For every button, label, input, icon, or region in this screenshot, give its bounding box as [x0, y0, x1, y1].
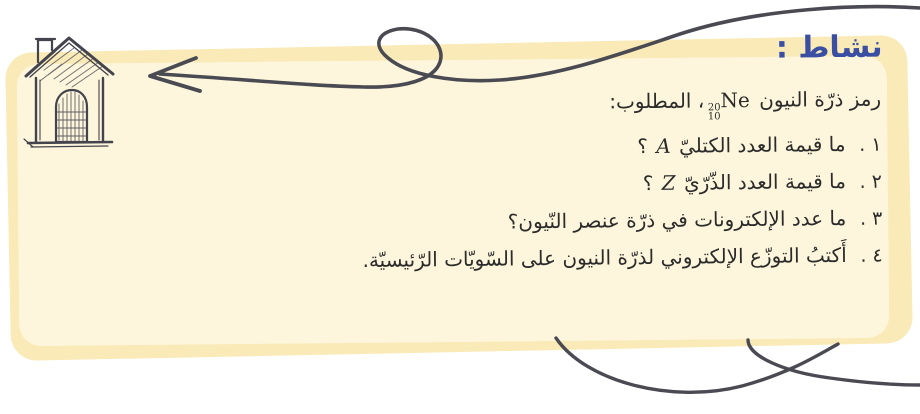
question-text: أَكتبُ التوزّع الإلكتروني لذرّة النيون ع…	[362, 237, 847, 278]
question-variable: Z	[660, 165, 678, 201]
lead-suffix-text: ، المطلوب:	[609, 88, 704, 113]
question-item-4: ٤ . أَكتبُ التوزّع الإلكتروني لذرّة الني…	[43, 237, 883, 283]
question-text: ما عدد الإلكترونات في ذرّة عنصر النّيون؟	[508, 200, 847, 240]
activity-card-content: نشاط : رمز ذرّة النيون 2010Ne، المطلوب: …	[16, 21, 903, 360]
isotope-numbers: 2010	[708, 103, 721, 122]
question-text: ما قيمة العدد الذّرّيّ Z ؟	[643, 163, 847, 201]
question-text-after: ؟	[643, 171, 660, 195]
worksheet-page: نشاط : رمز ذرّة النيون 2010Ne، المطلوب: …	[0, 0, 920, 414]
lead-prefix-text: رمز ذرّة النيون	[753, 87, 882, 112]
question-marker: ١ .	[855, 127, 881, 163]
question-text-before: ما قيمة العدد الذّرّيّ	[678, 169, 847, 195]
isotope-symbol: Ne	[720, 88, 750, 112]
isotope-atomic-number: 10	[708, 112, 721, 121]
activity-body: رمز ذرّة النيون 2010Ne، المطلوب: ١ . ما …	[41, 84, 883, 283]
activity-lead-line: رمز ذرّة النيون 2010Ne، المطلوب:	[41, 84, 881, 129]
question-text: ما قيمة العدد الكتليّ A ؟	[637, 126, 846, 164]
question-marker: ٣ .	[856, 201, 882, 237]
question-text-before: ما قيمة العدد الكتليّ	[673, 132, 846, 158]
question-marker: ٤ .	[857, 238, 883, 274]
question-marker: ٢ .	[856, 164, 882, 200]
isotope-notation: 2010Ne	[707, 85, 750, 122]
question-variable: A	[654, 128, 673, 164]
question-list: ١ . ما قيمة العدد الكتليّ A ؟ ٢ . ما قيم…	[41, 126, 883, 283]
question-text-after: ؟	[637, 134, 654, 158]
activity-title: نشاط :	[776, 30, 883, 66]
